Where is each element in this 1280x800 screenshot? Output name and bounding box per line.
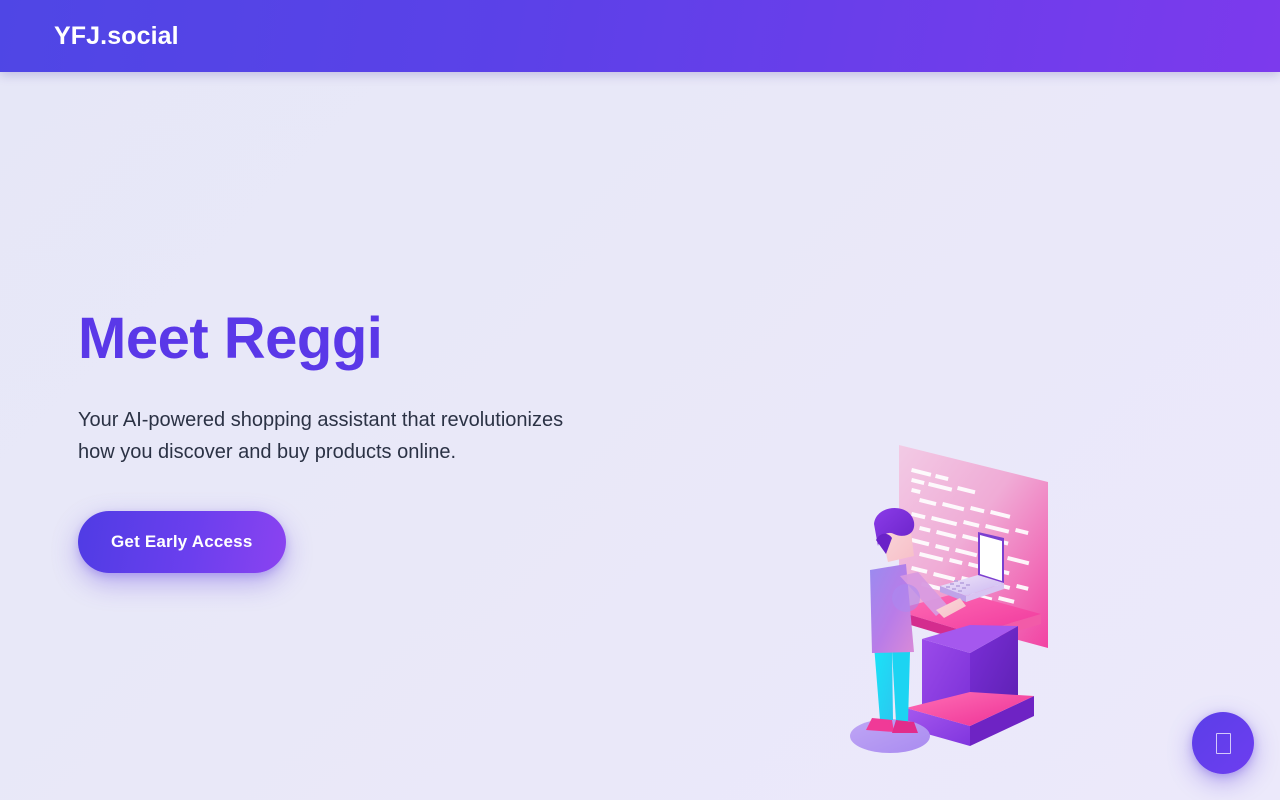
site-header: YFJ.social: [0, 0, 1280, 72]
chat-fab-button[interactable]: [1192, 712, 1254, 774]
hero-illustration: [836, 420, 1096, 780]
chat-bubble-icon: [1216, 733, 1231, 754]
brand-logo[interactable]: YFJ.social: [54, 24, 179, 49]
hero-copy: Meet Reggi Your AI-powered shopping assi…: [78, 309, 698, 573]
hero-subtitle: Your AI-powered shopping assistant that …: [78, 404, 588, 469]
get-early-access-button[interactable]: Get Early Access: [78, 511, 286, 573]
hero-section: Meet Reggi Your AI-powered shopping assi…: [0, 72, 1280, 800]
illustration-pedestal: [906, 625, 1034, 746]
page-title: Meet Reggi: [78, 309, 698, 370]
